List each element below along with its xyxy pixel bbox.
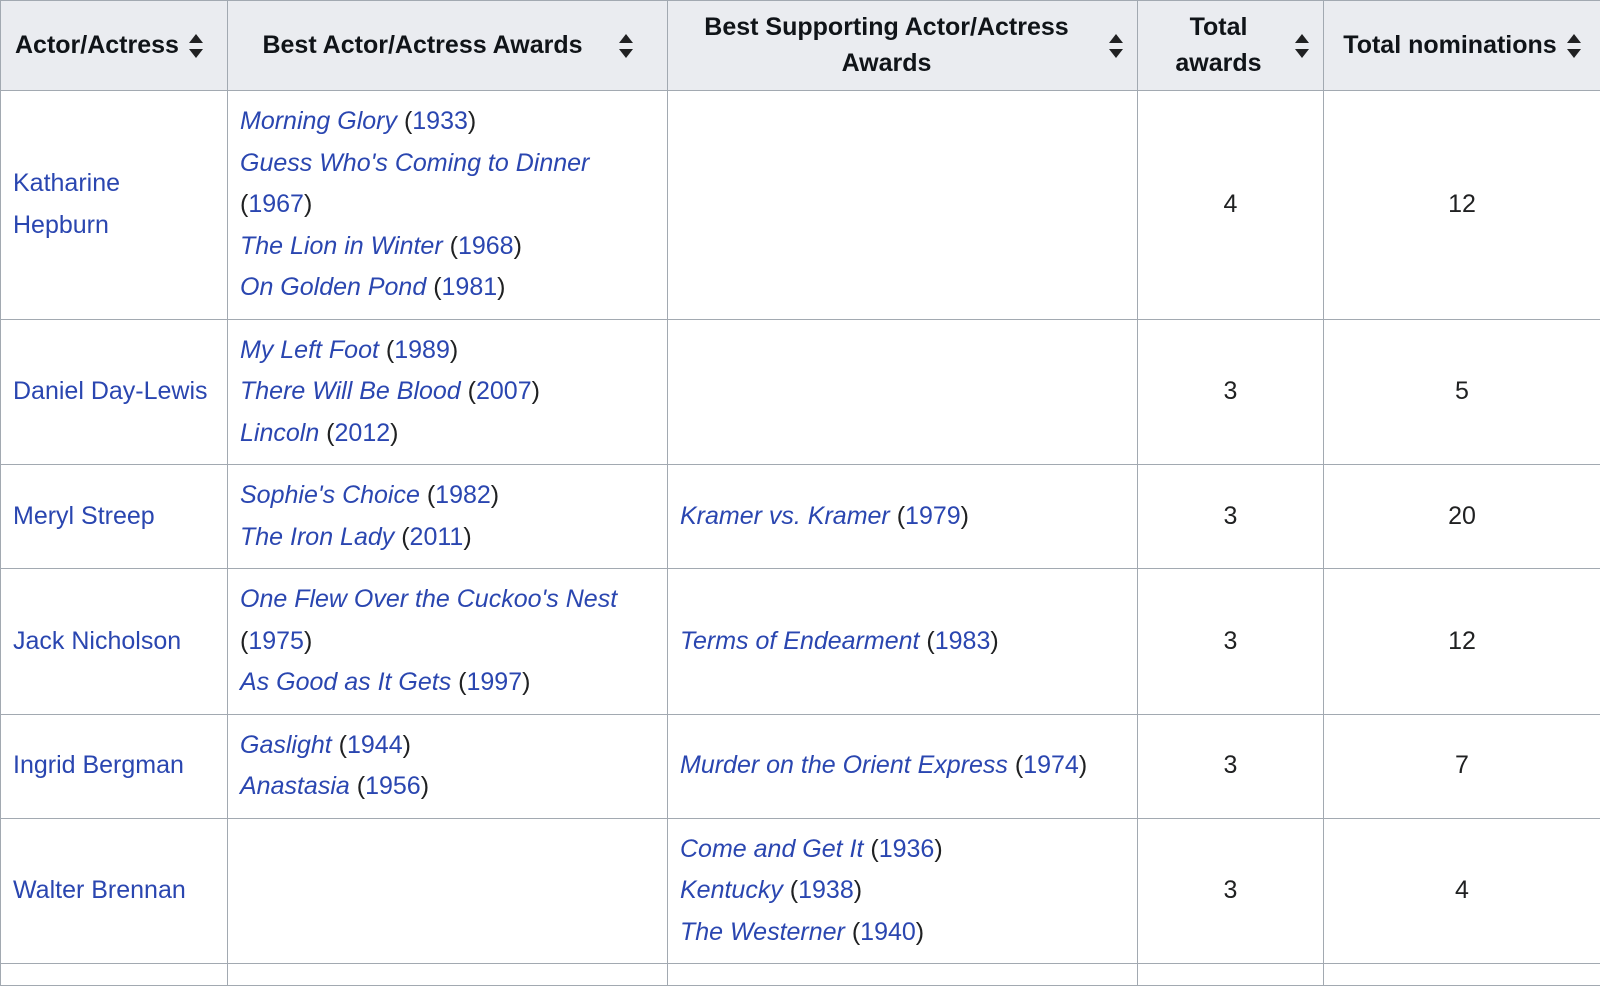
cell-total-nominations: 7 — [1324, 714, 1600, 818]
cell-lead: Gaslight (1944)Anastasia (1956) — [228, 714, 668, 818]
actor-link[interactable]: Ingrid Bergman — [13, 751, 184, 779]
paren-close: ) — [1079, 751, 1087, 779]
film-title-link[interactable]: Terms of Endearment — [680, 627, 919, 655]
ceremony-year-link[interactable]: 1975 — [248, 627, 304, 655]
column-header-total-awards[interactable]: Total awards — [1138, 1, 1324, 91]
paren-close: ) — [463, 523, 471, 551]
film-title-link[interactable]: On Golden Pond — [240, 273, 426, 301]
cell-total-awards: 4 — [1138, 91, 1324, 320]
ceremony-year-link[interactable]: 2011 — [410, 523, 464, 551]
ceremony-year-link[interactable]: 1944 — [347, 731, 403, 759]
actor-link[interactable]: Daniel Day-Lewis — [13, 377, 208, 405]
table-row: Walter BrennanCome and Get It (1936)Kent… — [1, 818, 1600, 964]
paren-open: ( — [332, 731, 347, 759]
ceremony-year-link[interactable]: 1968 — [458, 232, 514, 260]
table-row: Daniel Day-LewisMy Left Foot (1989)There… — [1, 319, 1600, 465]
cell-total-nominations: 12 — [1324, 91, 1600, 320]
film-entry: Sophie's Choice (1982) — [240, 475, 655, 517]
ceremony-year-link[interactable]: 1956 — [365, 772, 421, 800]
cell-supporting — [668, 319, 1138, 465]
paren-close: ) — [934, 835, 942, 863]
column-header-best-acting-awards-label: Best Actor/Actress Awards — [262, 28, 582, 64]
cell-lead: One Flew Over the Cuckoo's Nest (1975)As… — [228, 569, 668, 715]
film-entry: There Will Be Blood (2007) — [240, 371, 655, 413]
film-entry: The Westerner (1940) — [680, 912, 1125, 954]
paren-open: ( — [845, 918, 860, 946]
film-title-link[interactable]: Lincoln — [240, 419, 319, 447]
paren-close: ) — [304, 190, 312, 218]
paren-open: ( — [379, 336, 394, 364]
cell-actor: Daniel Day-Lewis — [1, 319, 228, 465]
paren-close: ) — [497, 273, 505, 301]
paren-open: ( — [890, 502, 905, 530]
film-title-link[interactable]: The Iron Lady — [240, 523, 394, 551]
film-title-link[interactable]: Guess Who's Coming to Dinner — [240, 149, 589, 177]
paren-close: ) — [468, 107, 476, 135]
cell-actor: Katharine Hepburn — [1, 91, 228, 320]
film-entry: The Lion in Winter (1968) — [240, 226, 655, 268]
cell-supporting: Kramer vs. Kramer (1979) — [668, 465, 1138, 569]
cell-total-nominations: 20 — [1324, 465, 1600, 569]
actor-link[interactable]: Katharine Hepburn — [13, 169, 120, 239]
table-row-partial — [1, 964, 1600, 986]
sort-both-icon[interactable] — [1109, 33, 1123, 59]
cell-total-awards: 3 — [1138, 714, 1324, 818]
paren-close: ) — [990, 627, 998, 655]
film-title-link[interactable]: Come and Get It — [680, 835, 863, 863]
paren-close: ) — [514, 232, 522, 260]
paren-open: ( — [863, 835, 878, 863]
column-header-best-supporting-awards[interactable]: Best Supporting Actor/Actress Awards — [668, 1, 1138, 91]
ceremony-year-link[interactable]: 1936 — [879, 835, 935, 863]
film-entry: Terms of Endearment (1983) — [680, 621, 1125, 663]
ceremony-year-link[interactable]: 1983 — [935, 627, 991, 655]
cell-supporting: Terms of Endearment (1983) — [668, 569, 1138, 715]
paren-close: ) — [854, 876, 862, 904]
film-entry: Murder on the Orient Express (1974) — [680, 745, 1125, 787]
cell-total-nominations: 12 — [1324, 569, 1600, 715]
column-header-total-nominations[interactable]: Total nominations — [1324, 1, 1600, 91]
cell-total-awards: 3 — [1138, 818, 1324, 964]
film-entry: One Flew Over the Cuckoo's Nest (1975) — [240, 579, 655, 662]
paren-close: ) — [403, 731, 411, 759]
ceremony-year-link[interactable]: 2012 — [335, 419, 391, 447]
ceremony-year-link[interactable]: 1967 — [248, 190, 304, 218]
table-row: Ingrid BergmanGaslight (1944)Anastasia (… — [1, 714, 1600, 818]
ceremony-year-link[interactable]: 1974 — [1023, 751, 1079, 779]
film-entry: Lincoln (2012) — [240, 413, 655, 455]
sort-both-icon[interactable] — [619, 33, 633, 59]
paren-close: ) — [961, 502, 969, 530]
cell-total-nominations: 4 — [1324, 818, 1600, 964]
film-title-link[interactable]: Murder on the Orient Express — [680, 751, 1008, 779]
paren-close: ) — [522, 668, 530, 696]
cell-total-awards: 3 — [1138, 465, 1324, 569]
column-header-best-acting-awards[interactable]: Best Actor/Actress Awards — [228, 1, 668, 91]
film-entry: On Golden Pond (1981) — [240, 267, 655, 309]
table-row: Jack NicholsonOne Flew Over the Cuckoo's… — [1, 569, 1600, 715]
table-body: Katharine HepburnMorning Glory (1933)Gue… — [1, 91, 1600, 986]
paren-open: ( — [919, 627, 934, 655]
column-header-total-nominations-label: Total nominations — [1343, 28, 1556, 64]
column-header-actor[interactable]: Actor/Actress — [1, 1, 228, 91]
film-title-link[interactable]: Anastasia — [240, 772, 350, 800]
header-row: Actor/Actress Best Actor/Actress Awards … — [1, 1, 1600, 91]
film-title-link[interactable]: There Will Be Blood — [240, 377, 461, 405]
paren-close: ) — [532, 377, 540, 405]
actor-link[interactable]: Meryl Streep — [13, 502, 155, 530]
film-entry: The Iron Lady (2011) — [240, 517, 655, 559]
cell-actor: Walter Brennan — [1, 818, 228, 964]
film-entry: Anastasia (1956) — [240, 766, 655, 808]
ceremony-year-link[interactable]: 1989 — [394, 336, 450, 364]
ceremony-year-link[interactable]: 1982 — [435, 481, 491, 509]
sort-both-icon[interactable] — [1295, 33, 1309, 59]
film-title-link[interactable]: One Flew Over the Cuckoo's Nest — [240, 585, 617, 613]
paren-open: ( — [420, 481, 435, 509]
film-entry: Kentucky (1938) — [680, 870, 1125, 912]
paren-open: ( — [443, 232, 458, 260]
film-title-link[interactable]: My Left Foot — [240, 336, 379, 364]
cell-lead: My Left Foot (1989)There Will Be Blood (… — [228, 319, 668, 465]
table-header: Actor/Actress Best Actor/Actress Awards … — [1, 1, 1600, 91]
film-title-link[interactable]: The Westerner — [680, 918, 845, 946]
cell-actor: Ingrid Bergman — [1, 714, 228, 818]
table-row: Katharine HepburnMorning Glory (1933)Gue… — [1, 91, 1600, 320]
film-entry: As Good as It Gets (1997) — [240, 662, 655, 704]
column-header-actor-label: Actor/Actress — [15, 28, 179, 64]
film-entry: Guess Who's Coming to Dinner (1967) — [240, 143, 655, 226]
column-header-best-supporting-awards-label: Best Supporting Actor/Actress Awards — [682, 10, 1091, 81]
paren-open: ( — [350, 772, 365, 800]
cell-supporting: Murder on the Orient Express (1974) — [668, 714, 1138, 818]
paren-close: ) — [491, 481, 499, 509]
film-title-link[interactable]: Kramer vs. Kramer — [680, 502, 890, 530]
paren-open: ( — [319, 419, 334, 447]
cell-total-nominations: 5 — [1324, 319, 1600, 465]
cell-clipped — [1, 964, 228, 986]
paren-open: ( — [394, 523, 409, 551]
paren-open: ( — [426, 273, 441, 301]
paren-close: ) — [450, 336, 458, 364]
film-title-link[interactable]: Morning Glory — [240, 107, 397, 135]
film-title-link[interactable]: As Good as It Gets — [240, 668, 451, 696]
cell-clipped — [228, 964, 668, 986]
cell-clipped — [668, 964, 1138, 986]
cell-clipped — [1138, 964, 1324, 986]
ceremony-year-link[interactable]: 1997 — [467, 668, 523, 696]
sort-both-icon[interactable] — [1567, 33, 1581, 59]
actor-link[interactable]: Jack Nicholson — [13, 627, 181, 655]
cell-total-awards: 3 — [1138, 569, 1324, 715]
cell-lead — [228, 818, 668, 964]
film-entry: Gaslight (1944) — [240, 725, 655, 767]
cell-lead: Sophie's Choice (1982)The Iron Lady (201… — [228, 465, 668, 569]
paren-open: ( — [1008, 751, 1023, 779]
paren-close: ) — [916, 918, 924, 946]
paren-close: ) — [304, 627, 312, 655]
ceremony-year-link[interactable]: 1979 — [905, 502, 961, 530]
sort-both-icon[interactable] — [189, 33, 203, 59]
ceremony-year-link[interactable]: 1933 — [412, 107, 468, 135]
table-row: Meryl StreepSophie's Choice (1982)The Ir… — [1, 465, 1600, 569]
paren-open: ( — [783, 876, 798, 904]
paren-open: ( — [461, 377, 476, 405]
film-entry: Morning Glory (1933) — [240, 101, 655, 143]
paren-open: ( — [397, 107, 412, 135]
cell-total-awards: 3 — [1138, 319, 1324, 465]
film-entry: Kramer vs. Kramer (1979) — [680, 496, 1125, 538]
cell-actor: Jack Nicholson — [1, 569, 228, 715]
cell-supporting — [668, 91, 1138, 320]
film-title-link[interactable]: Sophie's Choice — [240, 481, 420, 509]
column-header-total-awards-label: Total awards — [1152, 10, 1285, 81]
awards-table: Actor/Actress Best Actor/Actress Awards … — [0, 0, 1600, 986]
cell-supporting: Come and Get It (1936)Kentucky (1938)The… — [668, 818, 1138, 964]
ceremony-year-link[interactable]: 1938 — [798, 876, 854, 904]
paren-close: ) — [390, 419, 398, 447]
film-entry: My Left Foot (1989) — [240, 330, 655, 372]
paren-open: ( — [451, 668, 466, 696]
cell-clipped — [1324, 964, 1600, 986]
film-title-link[interactable]: Kentucky — [680, 876, 783, 904]
film-title-link[interactable]: The Lion in Winter — [240, 232, 443, 260]
film-entry: Come and Get It (1936) — [680, 829, 1125, 871]
actor-link[interactable]: Walter Brennan — [13, 876, 186, 904]
ceremony-year-link[interactable]: 2007 — [476, 377, 532, 405]
ceremony-year-link[interactable]: 1940 — [860, 918, 916, 946]
paren-close: ) — [421, 772, 429, 800]
film-title-link[interactable]: Gaslight — [240, 731, 332, 759]
cell-actor: Meryl Streep — [1, 465, 228, 569]
cell-lead: Morning Glory (1933)Guess Who's Coming t… — [228, 91, 668, 320]
ceremony-year-link[interactable]: 1981 — [442, 273, 498, 301]
